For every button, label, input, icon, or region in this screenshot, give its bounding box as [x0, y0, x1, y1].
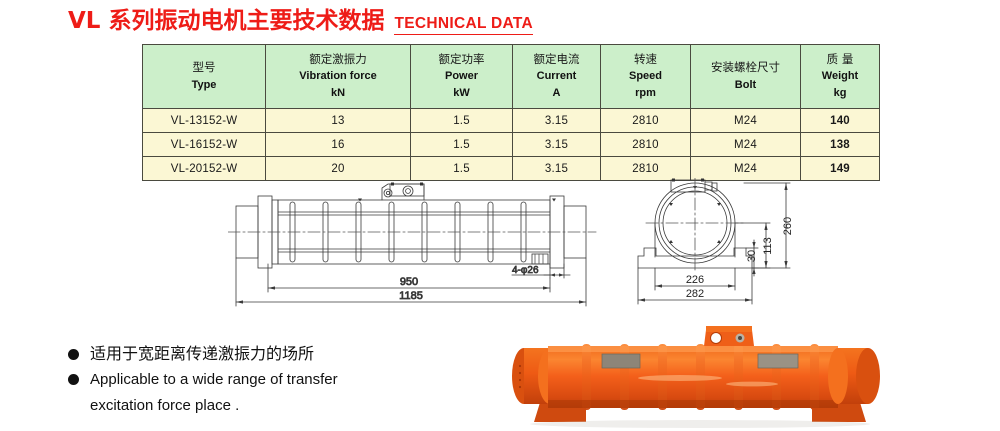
cell-type: VL-20152-W: [143, 157, 266, 181]
column-header-en: Power: [411, 68, 512, 85]
cell-power: 1.5: [411, 157, 513, 181]
dim-length-total: 1185: [399, 290, 423, 302]
cell-type: VL-13152-W: [143, 109, 266, 133]
column-header-en: Bolt: [691, 77, 800, 94]
column-header-type: 型号 Type: [143, 45, 266, 109]
column-header-cn: 额定电流: [513, 51, 600, 69]
table-row: VL-20152-W 20 1.5 3.15 2810 M24 149: [143, 157, 880, 181]
datasheet-page: VL 系列振动电机主要技术数据 TECHNICAL DATA 型号 Type 额…: [0, 0, 1000, 431]
cell-speed: 2810: [601, 133, 691, 157]
cell-bolt: M24: [691, 133, 801, 157]
cell-weight: 149: [801, 157, 880, 181]
column-header-unit: kN: [266, 85, 410, 102]
column-header-cn: 额定激振力: [266, 51, 410, 69]
dim-height-total: 260: [782, 217, 794, 235]
column-header-current: 额定电流 Current A: [513, 45, 601, 109]
bullet-dot-icon: [68, 374, 79, 385]
page-title-english: TECHNICAL DATA: [394, 16, 533, 35]
column-header-en: Speed: [601, 68, 690, 85]
page-title: VL 系列振动电机主要技术数据 TECHNICAL DATA: [68, 10, 533, 35]
cell-vibration-force: 20: [266, 157, 411, 181]
bullet-item-chinese: 适用于宽距离传递激振力的场所: [68, 344, 448, 365]
column-header-unit: kW: [411, 85, 512, 102]
bullet-text-en-line1: Applicable to a wide range of transfer: [90, 369, 338, 391]
cell-vibration-force: 13: [266, 109, 411, 133]
bullet-text-cn: 适用于宽距离传递激振力的场所: [90, 344, 314, 365]
bullet-dot-icon: [68, 349, 79, 360]
page-title-chinese: VL 系列振动电机主要技术数据: [68, 10, 384, 33]
dimension-drawing: 4-φ26 950 1185: [228, 178, 828, 313]
column-header-en: Vibration force: [266, 68, 410, 85]
motor-right-endcap: [828, 348, 880, 404]
feature-bullets: 适用于宽距离传递激振力的场所 Applicable to a wide rang…: [68, 344, 448, 416]
table-header-row: 型号 Type 额定激振力 Vibration force kN 额定功率 Po…: [143, 45, 880, 109]
column-header-cn: 质 量: [801, 51, 879, 69]
column-header-bolt: 安装螺栓尺寸 Bolt: [691, 45, 801, 109]
column-header-cn: 型号: [143, 59, 265, 77]
dim-bolt-note: 4-φ26: [512, 265, 539, 276]
column-header-en: Weight: [801, 68, 879, 85]
dim-width-total: 282: [686, 288, 704, 300]
column-header-weight: 质 量 Weight kg: [801, 45, 880, 109]
cell-speed: 2810: [601, 109, 691, 133]
column-header-vibration-force: 额定激振力 Vibration force kN: [266, 45, 411, 109]
specifications-table: 型号 Type 额定激振力 Vibration force kN 额定功率 Po…: [142, 44, 880, 181]
motor-body: [548, 344, 838, 410]
column-header-unit: rpm: [601, 85, 690, 102]
column-header-en: Type: [143, 77, 265, 94]
bullet-item-english: Applicable to a wide range of transfer: [68, 369, 448, 391]
cell-type: VL-16152-W: [143, 133, 266, 157]
cell-speed: 2810: [601, 157, 691, 181]
cell-power: 1.5: [411, 133, 513, 157]
cell-power: 1.5: [411, 109, 513, 133]
column-header-speed: 转速 Speed rpm: [601, 45, 691, 109]
product-photo: [490, 318, 910, 431]
dim-foot: 30: [746, 250, 758, 262]
dim-length-inner: 950: [400, 276, 418, 288]
cell-bolt: M24: [691, 157, 801, 181]
table-row: VL-13152-W 13 1.5 3.15 2810 M24 140: [143, 109, 880, 133]
column-header-cn: 额定功率: [411, 51, 512, 69]
column-header-power: 额定功率 Power kW: [411, 45, 513, 109]
cell-weight: 140: [801, 109, 880, 133]
cell-current: 3.15: [513, 133, 601, 157]
column-header-cn: 转速: [601, 51, 690, 69]
column-header-cn: 安装螺栓尺寸: [691, 59, 800, 77]
cell-current: 3.15: [513, 157, 601, 181]
cell-bolt: M24: [691, 109, 801, 133]
lifting-lug: [704, 326, 754, 346]
dim-width-bolt: 226: [686, 274, 704, 286]
cell-weight: 138: [801, 133, 880, 157]
cell-current: 3.15: [513, 109, 601, 133]
table-row: VL-16152-W 16 1.5 3.15 2810 M24 138: [143, 133, 880, 157]
column-header-unit: kg: [801, 85, 879, 102]
dim-height-center: 113: [762, 237, 774, 255]
cell-vibration-force: 16: [266, 133, 411, 157]
bullet-text-en-line2: excitation force place .: [90, 395, 448, 417]
column-header-en: Current: [513, 68, 600, 85]
side-view-outline: [228, 183, 596, 269]
column-header-unit: A: [513, 85, 600, 102]
